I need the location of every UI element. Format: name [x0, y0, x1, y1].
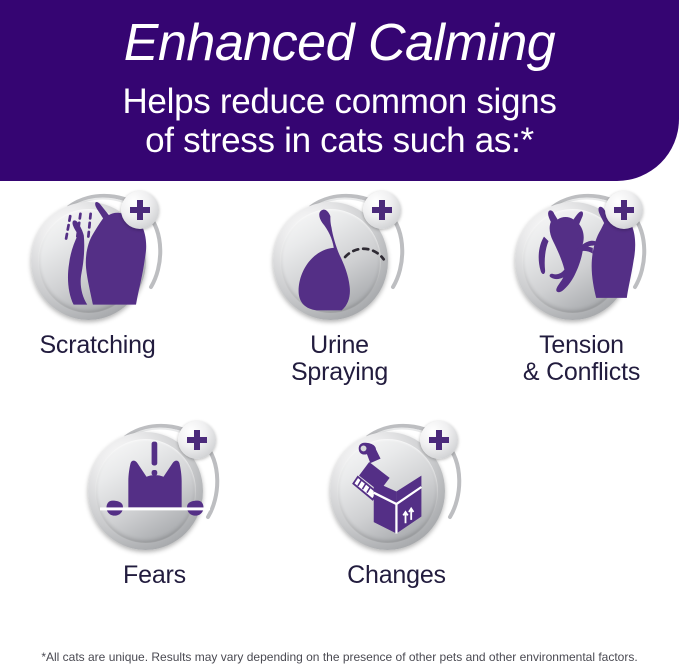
badge-scratching[interactable]	[25, 191, 171, 323]
badge-changes[interactable]	[324, 421, 470, 553]
plus-badge	[178, 421, 216, 459]
plus-icon	[611, 197, 637, 223]
plus-icon	[369, 197, 395, 223]
stress-sign-scratching[interactable]: Scratching	[25, 191, 171, 386]
stress-sign-changes[interactable]: Changes	[324, 421, 470, 589]
stress-sign-label: Changes	[347, 562, 446, 589]
plus-icon	[184, 427, 210, 453]
stress-sign-urine-spraying[interactable]: Urine Spraying	[267, 191, 413, 386]
stress-sign-label: Scratching	[39, 332, 155, 359]
footnote-disclaimer: *All cats are unique. Results may vary d…	[0, 649, 679, 666]
stress-sign-fears[interactable]: Fears	[82, 421, 228, 589]
plus-badge	[605, 191, 643, 229]
stress-sign-label: Fears	[123, 562, 186, 589]
plus-badge	[121, 191, 159, 229]
plus-icon	[127, 197, 153, 223]
grid-row-1: Scratching	[0, 191, 679, 386]
stress-sign-tension-conflicts[interactable]: Tension & Conflicts	[509, 191, 655, 386]
badge-urine-spraying[interactable]	[267, 191, 413, 323]
plus-badge	[363, 191, 401, 229]
plus-icon	[426, 427, 452, 453]
stress-sign-label: Tension & Conflicts	[523, 332, 640, 386]
stress-sign-label: Urine Spraying	[291, 332, 388, 386]
grid-row-2: Fears	[0, 421, 679, 589]
signs-of-stress-grid: Scratching	[0, 181, 679, 613]
subtitle-line-1: Helps reduce common signs	[122, 82, 556, 121]
page-title: Enhanced Calming	[0, 0, 679, 69]
badge-fears[interactable]	[82, 421, 228, 553]
plus-badge	[420, 421, 458, 459]
page-subtitle: Helps reduce common signs of stress in c…	[0, 69, 679, 160]
header-banner: Enhanced Calming Helps reduce common sig…	[0, 0, 679, 181]
subtitle-line-2: of stress in cats such as:*	[0, 121, 679, 160]
badge-tension-conflicts[interactable]	[509, 191, 655, 323]
